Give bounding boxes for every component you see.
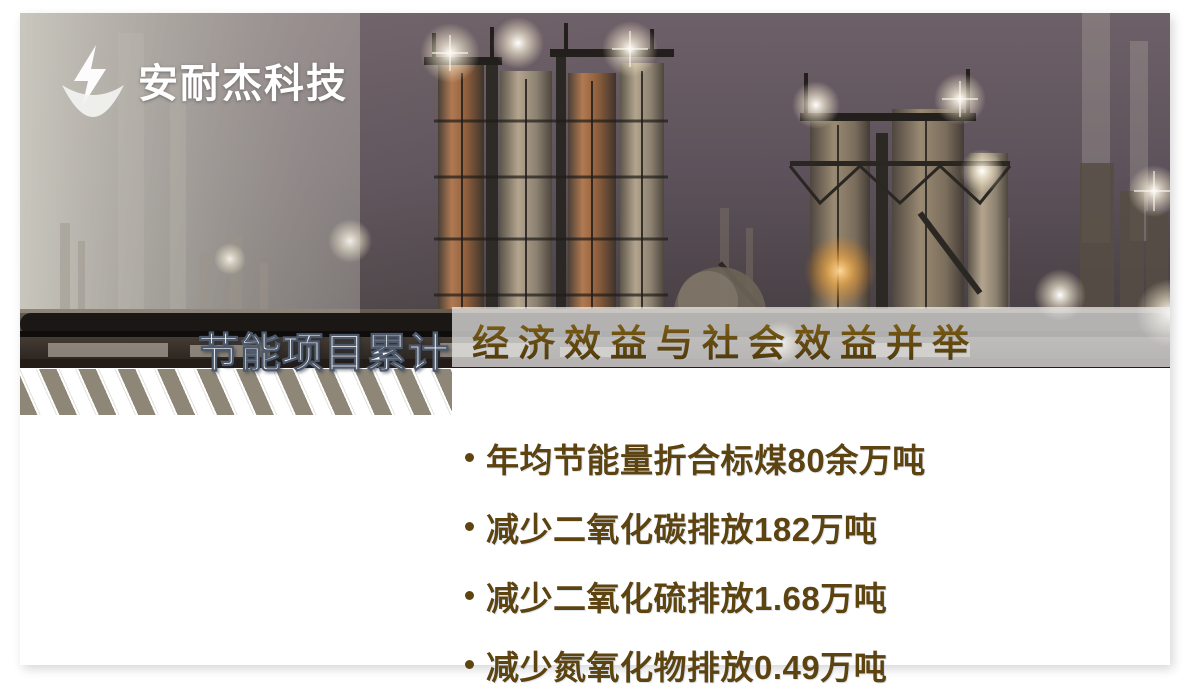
bullet-dot-icon	[452, 660, 486, 669]
sub-heading: 节能项目累计	[198, 319, 450, 379]
content-area: 年均节能量折合标煤80余万吨 减少二氧化碳排放182万吨 减少二氧化硫排放1.6…	[20, 368, 1170, 665]
bullet-list: 年均节能量折合标煤80余万吨 减少二氧化碳排放182万吨 减少二氧化硫排放1.6…	[452, 423, 1152, 699]
list-item: 减少氮氧化物排放0.49万吨	[452, 630, 1152, 699]
list-item-label: 减少二氧化碳排放182万吨	[486, 503, 878, 551]
list-item: 减少二氧化碳排放182万吨	[452, 492, 1152, 561]
company-logo: 安耐杰科技	[62, 43, 348, 117]
list-item: 减少二氧化硫排放1.68万吨	[452, 561, 1152, 630]
lightning-bolt-icon	[62, 43, 124, 117]
page-title: 经济效益与社会效益并举	[472, 313, 1172, 367]
company-name: 安耐杰科技	[138, 51, 348, 109]
bullet-dot-icon	[452, 591, 486, 600]
list-item: 年均节能量折合标煤80余万吨	[452, 423, 1152, 492]
bullet-dot-icon	[452, 453, 486, 462]
slide-canvas: 安耐杰科技 节能项目累计 经济效益与社会效益并举 年均节能量折合标煤80余万吨 …	[20, 13, 1170, 665]
list-item-label: 年均节能量折合标煤80余万吨	[486, 434, 926, 482]
list-item-label: 减少二氧化硫排放1.68万吨	[486, 572, 887, 620]
bullet-dot-icon	[452, 522, 486, 531]
list-item-label: 减少氮氧化物排放0.49万吨	[486, 641, 887, 689]
